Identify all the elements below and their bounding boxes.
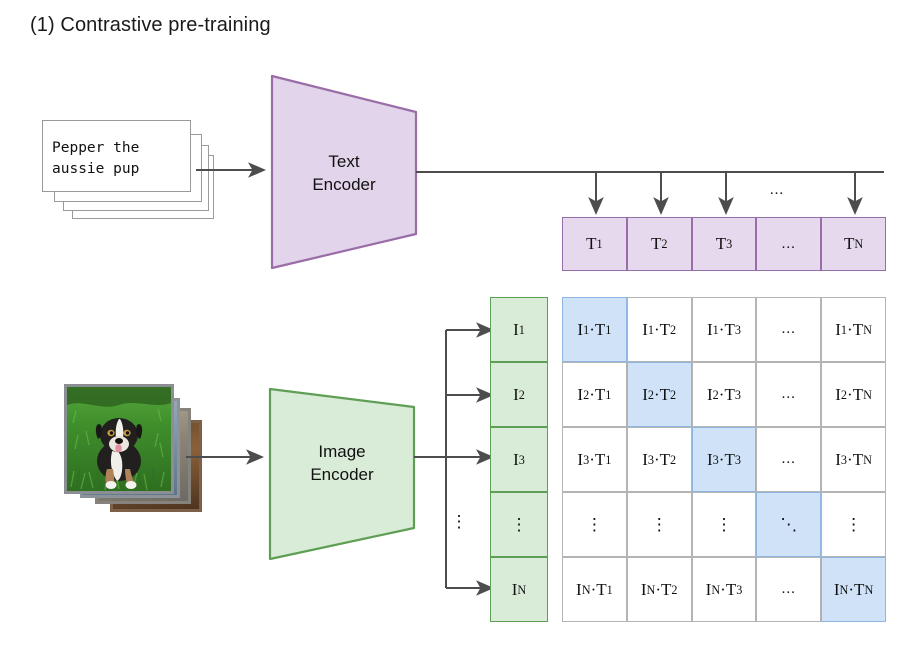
similarity-cell-r4-c3: ⋮ bbox=[692, 492, 757, 557]
similarity-cell-r3-c1: I3·T1 bbox=[562, 427, 627, 492]
similarity-cell-r1-c4: ... bbox=[756, 297, 821, 362]
similarity-cell-r2-c2: I2·T2 bbox=[627, 362, 692, 427]
similarity-cell-r4-c4: ⋱ bbox=[756, 492, 821, 557]
similarity-cell-r2-c1: I2·T1 bbox=[562, 362, 627, 427]
similarity-cell-r4-c1: ⋮ bbox=[562, 492, 627, 557]
text-embedding-cell-1: T1 bbox=[562, 217, 627, 271]
image-embedding-cell-2: I2 bbox=[490, 362, 548, 427]
image-embedding-cell-1: I1 bbox=[490, 297, 548, 362]
similarity-cell-r5-c1: IN·T1 bbox=[562, 557, 627, 622]
text-embedding-cell-4: ... bbox=[756, 217, 821, 271]
similarity-cell-r2-c5: I2·TN bbox=[821, 362, 886, 427]
diagram-canvas: (1) Contrastive pre-training Pepper the … bbox=[0, 0, 906, 654]
similarity-cell-r5-c2: IN·T2 bbox=[627, 557, 692, 622]
image-embedding-cell-5: IN bbox=[490, 557, 548, 622]
text-embedding-cell-2: T2 bbox=[627, 217, 692, 271]
image-embedding-cell-3: I3 bbox=[490, 427, 548, 492]
bus-ellipsis: ... bbox=[760, 178, 794, 202]
similarity-cell-r1-c3: I1·T3 bbox=[692, 297, 757, 362]
similarity-cell-r1-c1: I1·T1 bbox=[562, 297, 627, 362]
similarity-cell-r3-c2: I3·T2 bbox=[627, 427, 692, 492]
image-branch-ellipsis: ⋮ bbox=[448, 510, 470, 534]
similarity-cell-r3-c4: ... bbox=[756, 427, 821, 492]
similarity-cell-r5-c5: IN·TN bbox=[821, 557, 886, 622]
similarity-cell-r1-c2: I1·T2 bbox=[627, 297, 692, 362]
similarity-cell-r3-c3: I3·T3 bbox=[692, 427, 757, 492]
text-embedding-cell-3: T3 bbox=[692, 217, 757, 271]
similarity-cell-r4-c5: ⋮ bbox=[821, 492, 886, 557]
similarity-cell-r5-c4: ... bbox=[756, 557, 821, 622]
similarity-cell-r1-c5: I1·TN bbox=[821, 297, 886, 362]
similarity-cell-r2-c4: ... bbox=[756, 362, 821, 427]
similarity-cell-r5-c3: IN·T3 bbox=[692, 557, 757, 622]
similarity-cell-r2-c3: I2·T3 bbox=[692, 362, 757, 427]
similarity-cell-r4-c2: ⋮ bbox=[627, 492, 692, 557]
similarity-cell-r3-c5: I3·TN bbox=[821, 427, 886, 492]
image-embedding-cell-4: ⋮ bbox=[490, 492, 548, 557]
text-embedding-cell-5: TN bbox=[821, 217, 886, 271]
